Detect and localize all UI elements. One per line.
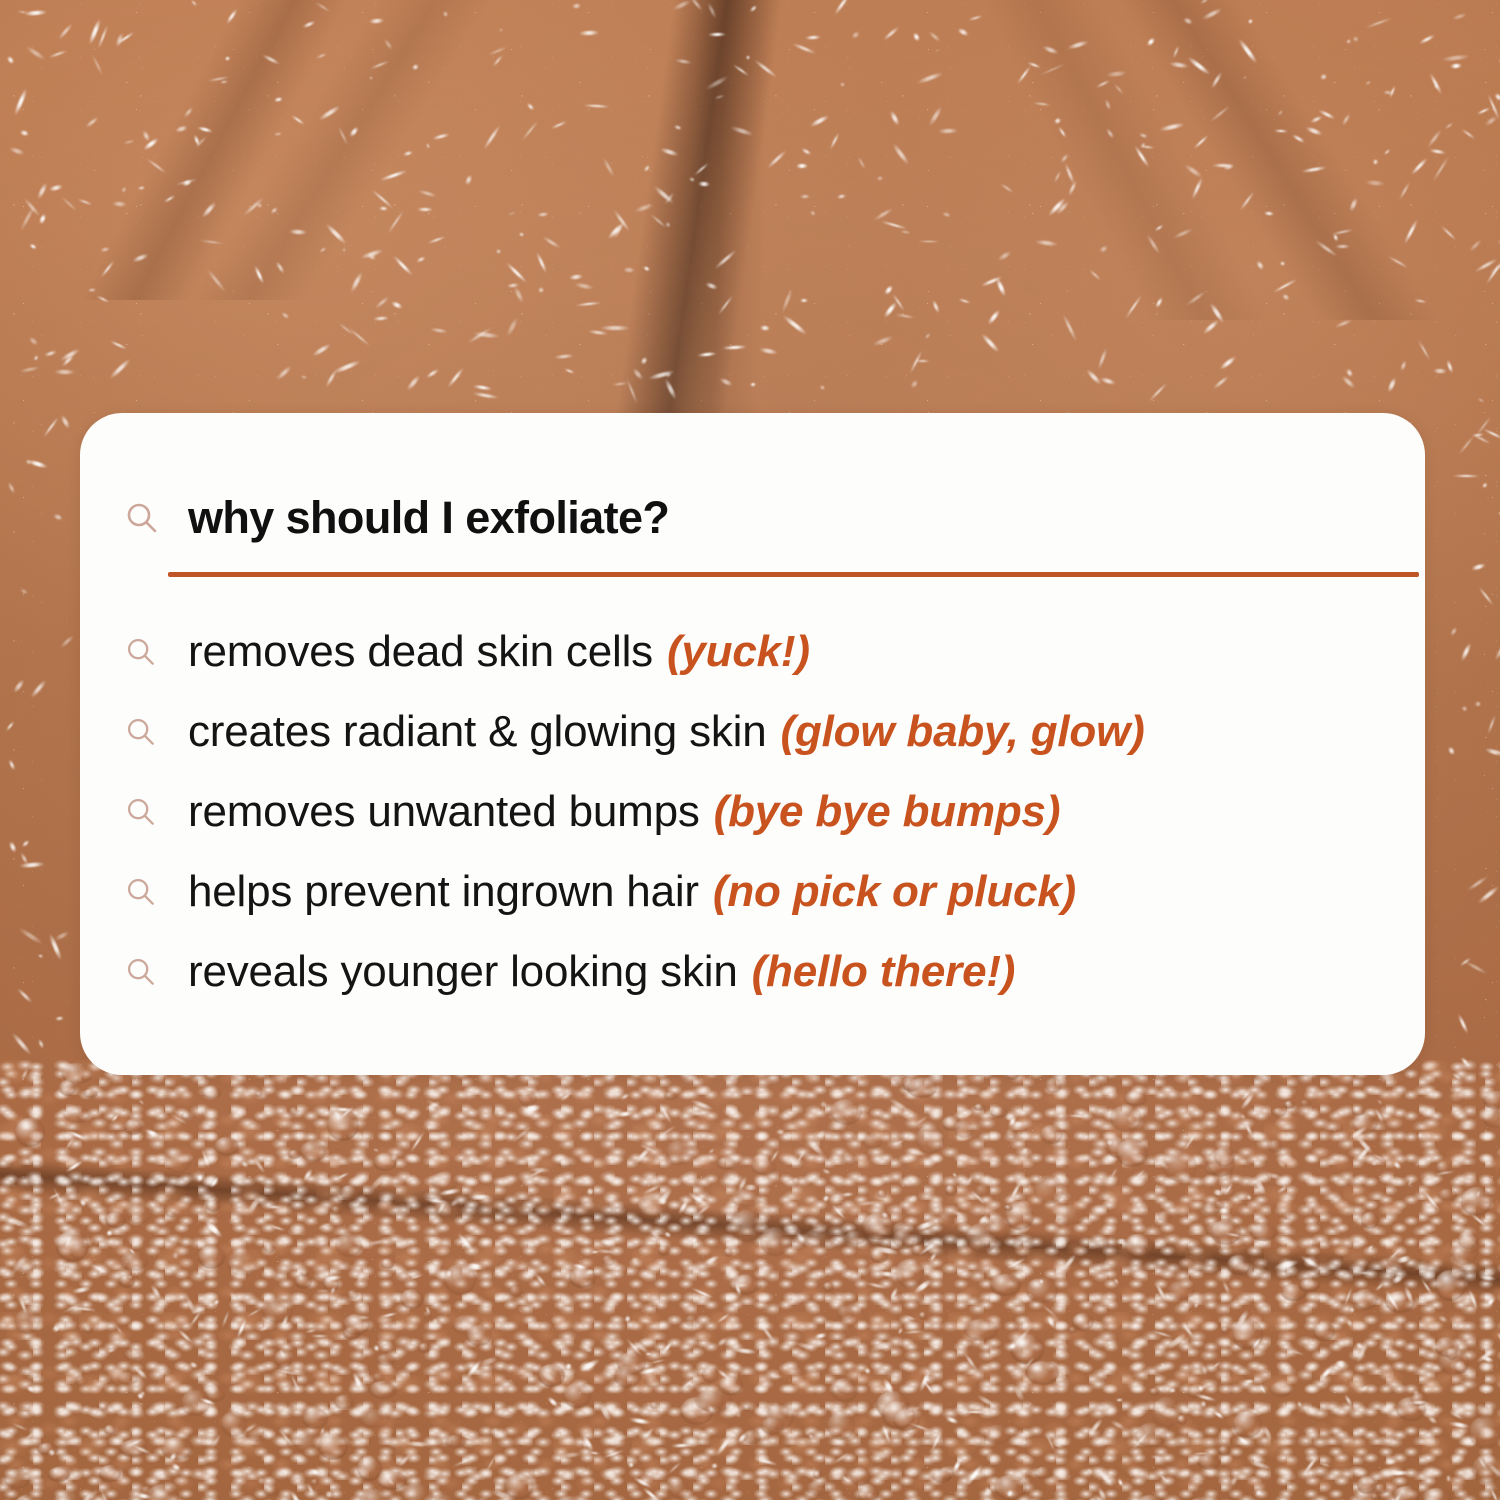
promo-graphic: why should I exfoliate? removes dead ski… — [0, 0, 1500, 1500]
search-icon — [124, 875, 170, 909]
search-icon — [124, 955, 170, 989]
info-card: why should I exfoliate? removes dead ski… — [80, 413, 1425, 1075]
search-icon — [124, 500, 170, 536]
benefit-aside: (hello there!) — [752, 950, 1016, 994]
search-icon — [124, 715, 170, 749]
benefit-text: removes unwanted bumps — [188, 790, 700, 834]
search-icon — [124, 635, 170, 669]
benefit-aside: (bye bye bumps) — [714, 790, 1061, 834]
benefit-aside: (glow baby, glow) — [781, 710, 1145, 754]
list-item: removes unwanted bumps(bye bye bumps) — [124, 772, 1381, 852]
benefit-text: removes dead skin cells — [188, 630, 653, 674]
list-item: helps prevent ingrown hair(no pick or pl… — [124, 852, 1381, 932]
list-item: reveals younger looking skin(hello there… — [124, 932, 1381, 1012]
card-header: why should I exfoliate? — [124, 495, 669, 540]
benefit-text: reveals younger looking skin — [188, 950, 738, 994]
header-divider — [168, 572, 1419, 577]
benefit-text: helps prevent ingrown hair — [188, 870, 699, 914]
list-item: removes dead skin cells(yuck!) — [124, 612, 1381, 692]
search-icon — [124, 795, 170, 829]
benefit-text: creates radiant & glowing skin — [188, 710, 767, 754]
page-title: why should I exfoliate? — [188, 495, 669, 540]
benefit-aside: (yuck!) — [667, 630, 810, 674]
benefit-list: removes dead skin cells(yuck!)creates ra… — [124, 612, 1381, 1012]
benefit-aside: (no pick or pluck) — [713, 870, 1076, 914]
list-item: creates radiant & glowing skin(glow baby… — [124, 692, 1381, 772]
